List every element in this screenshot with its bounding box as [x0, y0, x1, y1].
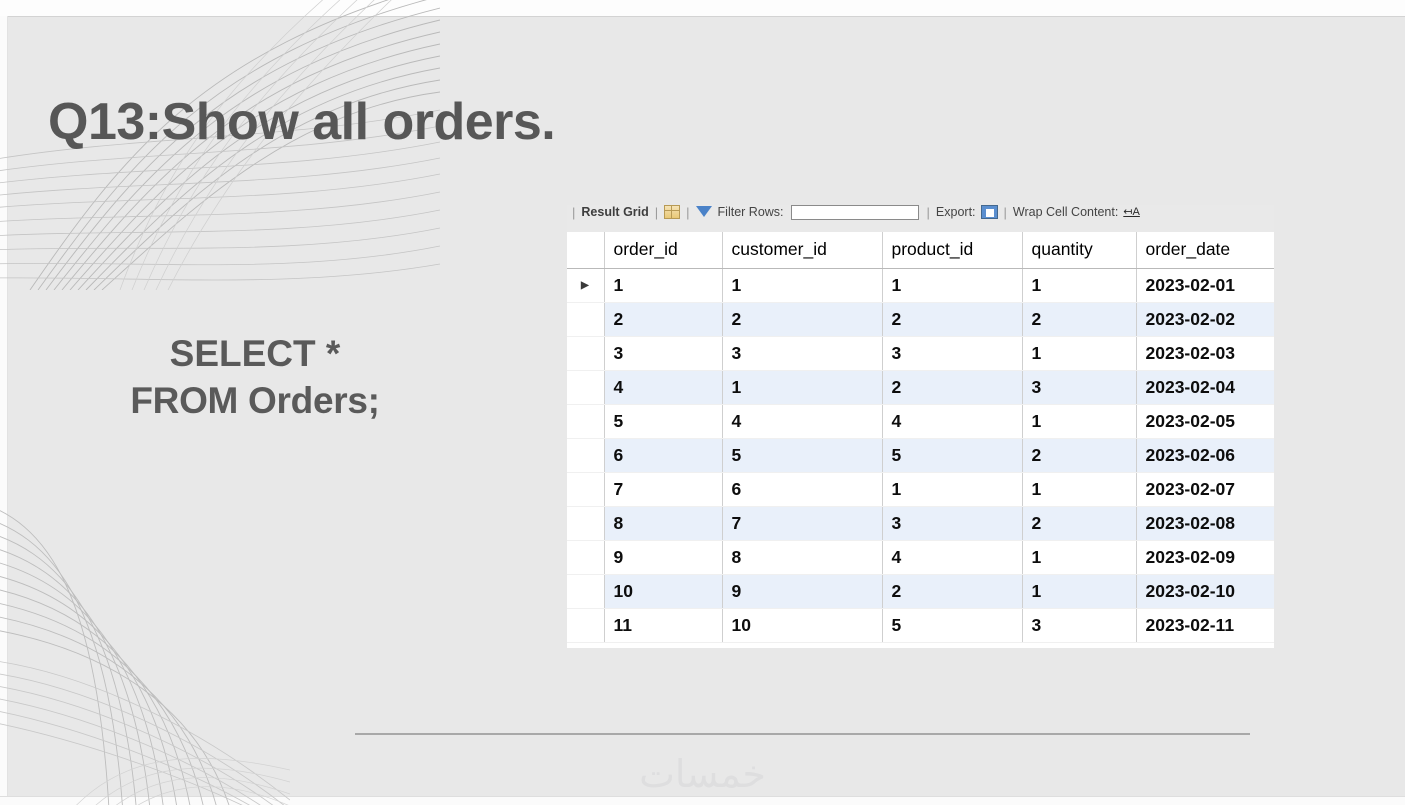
table-row[interactable]: 33312023-02-03	[567, 336, 1274, 370]
cell-order_date[interactable]: 2023-02-11	[1136, 608, 1274, 642]
result-grid-toolbar: | Result Grid | | Filter Rows: | Export:…	[567, 205, 1274, 233]
column-header-customer-id[interactable]: customer_id	[722, 232, 882, 268]
column-header-quantity[interactable]: quantity	[1022, 232, 1136, 268]
cell-order_id[interactable]: 2	[604, 302, 722, 336]
toolbar-separator: |	[685, 205, 690, 220]
row-marker-header	[567, 232, 604, 268]
cell-quantity[interactable]: 1	[1022, 472, 1136, 506]
footer-divider	[355, 733, 1250, 735]
column-header-product-id[interactable]: product_id	[882, 232, 1022, 268]
cell-product_id[interactable]: 4	[882, 404, 1022, 438]
cell-order_id[interactable]: 10	[604, 574, 722, 608]
orders-table: order_id customer_id product_id quantity…	[567, 232, 1274, 643]
cell-customer_id[interactable]: 10	[722, 608, 882, 642]
cell-order_id[interactable]: 4	[604, 370, 722, 404]
watermark-text: خمسات	[0, 752, 1405, 796]
current-row-arrow-icon: ▶	[581, 281, 589, 291]
cell-order_date[interactable]: 2023-02-02	[1136, 302, 1274, 336]
row-marker-cell[interactable]	[567, 438, 604, 472]
funnel-icon[interactable]	[696, 205, 713, 219]
row-marker-cell[interactable]	[567, 608, 604, 642]
cell-customer_id[interactable]: 3	[722, 336, 882, 370]
cell-quantity[interactable]: 3	[1022, 370, 1136, 404]
row-marker-cell[interactable]: ▶	[567, 268, 604, 302]
sql-line-1: SELECT *	[40, 330, 470, 377]
cell-order_date[interactable]: 2023-02-09	[1136, 540, 1274, 574]
toolbar-separator: |	[571, 205, 576, 220]
cell-order_id[interactable]: 6	[604, 438, 722, 472]
cell-product_id[interactable]: 1	[882, 472, 1022, 506]
cell-quantity[interactable]: 1	[1022, 268, 1136, 302]
cell-quantity[interactable]: 2	[1022, 506, 1136, 540]
row-marker-cell[interactable]	[567, 404, 604, 438]
slide-top-edge	[0, 0, 1405, 16]
row-marker-cell[interactable]	[567, 302, 604, 336]
table-row[interactable]: 65522023-02-06	[567, 438, 1274, 472]
cell-order_date[interactable]: 2023-02-10	[1136, 574, 1274, 608]
cell-order_id[interactable]: 7	[604, 472, 722, 506]
slide-bottom-edge	[0, 796, 1405, 805]
export-label: Export:	[936, 205, 976, 219]
slide-left-edge	[0, 16, 8, 797]
cell-customer_id[interactable]: 7	[722, 506, 882, 540]
table-row[interactable]: 41232023-02-04	[567, 370, 1274, 404]
column-header-order-date[interactable]: order_date	[1136, 232, 1274, 268]
cell-customer_id[interactable]: 6	[722, 472, 882, 506]
cell-customer_id[interactable]: 5	[722, 438, 882, 472]
table-row[interactable]: 87322023-02-08	[567, 506, 1274, 540]
table-row[interactable]: 22222023-02-02	[567, 302, 1274, 336]
cell-customer_id[interactable]: 8	[722, 540, 882, 574]
cell-order_date[interactable]: 2023-02-05	[1136, 404, 1274, 438]
cell-product_id[interactable]: 4	[882, 540, 1022, 574]
cell-quantity[interactable]: 1	[1022, 336, 1136, 370]
cell-order_id[interactable]: 5	[604, 404, 722, 438]
cell-order_date[interactable]: 2023-02-04	[1136, 370, 1274, 404]
cell-product_id[interactable]: 1	[882, 268, 1022, 302]
result-grid-label: Result Grid	[581, 205, 648, 219]
cell-order_date[interactable]: 2023-02-08	[1136, 506, 1274, 540]
cell-quantity[interactable]: 2	[1022, 438, 1136, 472]
export-icon[interactable]	[981, 205, 998, 219]
cell-order_id[interactable]: 3	[604, 336, 722, 370]
cell-product_id[interactable]: 5	[882, 608, 1022, 642]
cell-customer_id[interactable]: 1	[722, 370, 882, 404]
cell-product_id[interactable]: 2	[882, 302, 1022, 336]
toolbar-separator: |	[926, 205, 931, 220]
toolbar-separator: |	[1003, 205, 1008, 220]
cell-order_date[interactable]: 2023-02-07	[1136, 472, 1274, 506]
cell-product_id[interactable]: 2	[882, 574, 1022, 608]
row-marker-cell[interactable]	[567, 370, 604, 404]
slide-top-rule	[0, 16, 1405, 17]
cell-product_id[interactable]: 3	[882, 506, 1022, 540]
row-marker-cell[interactable]	[567, 506, 604, 540]
cell-order_id[interactable]: 9	[604, 540, 722, 574]
sql-line-2: FROM Orders;	[40, 377, 470, 424]
table-row[interactable]: 98412023-02-09	[567, 540, 1274, 574]
cell-customer_id[interactable]: 4	[722, 404, 882, 438]
row-marker-cell[interactable]	[567, 472, 604, 506]
cell-quantity[interactable]: 3	[1022, 608, 1136, 642]
wrap-text-icon[interactable]: ↤A	[1123, 207, 1140, 218]
row-marker-cell[interactable]	[567, 336, 604, 370]
filter-rows-label: Filter Rows:	[718, 205, 784, 219]
table-row[interactable]: ▶11112023-02-01	[567, 268, 1274, 302]
table-row[interactable]: 76112023-02-07	[567, 472, 1274, 506]
table-row[interactable]: 54412023-02-05	[567, 404, 1274, 438]
table-row[interactable]: 1110532023-02-11	[567, 608, 1274, 642]
grid-icon[interactable]	[664, 205, 680, 219]
cell-customer_id[interactable]: 1	[722, 268, 882, 302]
table-header-row: order_id customer_id product_id quantity…	[567, 232, 1274, 268]
cell-customer_id[interactable]: 2	[722, 302, 882, 336]
cell-quantity[interactable]: 1	[1022, 404, 1136, 438]
cell-order_date[interactable]: 2023-02-03	[1136, 336, 1274, 370]
toolbar-separator: |	[654, 205, 659, 220]
cell-product_id[interactable]: 5	[882, 438, 1022, 472]
cell-order_date[interactable]: 2023-02-01	[1136, 268, 1274, 302]
wrap-cell-content-label: Wrap Cell Content:	[1013, 205, 1118, 219]
page-title: Q13:Show all orders.	[48, 92, 555, 152]
result-grid-panel: | Result Grid | | Filter Rows: | Export:…	[567, 205, 1274, 648]
slide-canvas: Q13:Show all orders. SELECT * FROM Order…	[0, 0, 1405, 805]
column-header-order-id[interactable]: order_id	[604, 232, 722, 268]
sql-query-block: SELECT * FROM Orders;	[40, 330, 470, 425]
cell-order_id[interactable]: 1	[604, 268, 722, 302]
table-row[interactable]: 109212023-02-10	[567, 574, 1274, 608]
cell-customer_id[interactable]: 9	[722, 574, 882, 608]
cell-order_id[interactable]: 8	[604, 506, 722, 540]
row-marker-cell[interactable]	[567, 574, 604, 608]
cell-product_id[interactable]: 2	[882, 370, 1022, 404]
cell-quantity[interactable]: 2	[1022, 302, 1136, 336]
row-marker-cell[interactable]	[567, 540, 604, 574]
cell-order_date[interactable]: 2023-02-06	[1136, 438, 1274, 472]
cell-quantity[interactable]: 1	[1022, 540, 1136, 574]
cell-order_id[interactable]: 11	[604, 608, 722, 642]
cell-quantity[interactable]: 1	[1022, 574, 1136, 608]
result-grid[interactable]: order_id customer_id product_id quantity…	[567, 232, 1274, 648]
cell-product_id[interactable]: 3	[882, 336, 1022, 370]
filter-rows-input[interactable]	[791, 205, 919, 220]
